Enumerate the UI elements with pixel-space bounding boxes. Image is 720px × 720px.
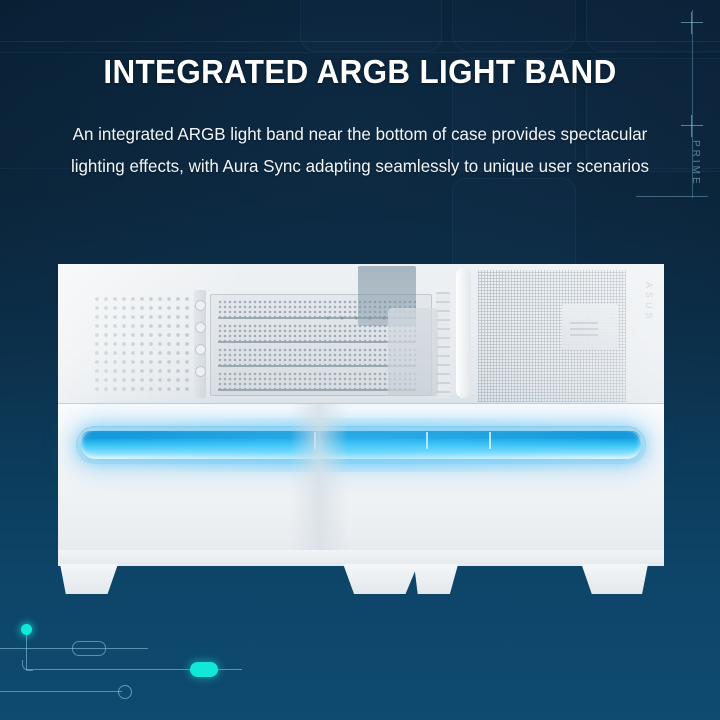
case-foot <box>574 564 648 594</box>
mesh-panel-right <box>478 270 626 402</box>
cable-cover-bar <box>456 268 471 398</box>
crosshair-icon <box>681 115 703 137</box>
pci-retention-rail <box>194 290 206 398</box>
case-foot <box>414 564 460 594</box>
argb-segment-divider <box>426 432 428 449</box>
io-bracket-strip <box>436 292 450 398</box>
circuit-node-dot <box>21 624 32 635</box>
drive-bay-plate <box>562 304 618 350</box>
background-rule <box>0 41 720 42</box>
thumbscrew-icon <box>195 300 206 311</box>
case-foot <box>60 564 118 594</box>
case-front-panel <box>58 404 664 556</box>
background-panel-shape <box>300 0 442 52</box>
psu-shroud <box>358 266 416 326</box>
case-glass-window: ASUS <box>58 264 664 412</box>
pci-slot-cover <box>218 348 416 367</box>
pci-slot-cover <box>218 372 416 391</box>
argb-segment-divider <box>314 432 316 449</box>
mesh-panel-left <box>94 296 194 392</box>
circuit-trace <box>0 691 122 692</box>
circuit-decoration <box>0 610 300 720</box>
pci-slot-cover <box>218 324 416 343</box>
circuit-pill-filled <box>190 662 218 677</box>
drive-bay-slot <box>570 334 598 336</box>
case-base-plate <box>58 550 664 566</box>
crosshair-icon <box>681 12 703 34</box>
case-foot <box>340 564 418 594</box>
pci-slot-assembly <box>210 294 432 396</box>
product-image-pc-case: ASUS <box>58 264 664 594</box>
drive-bay-slot <box>570 322 598 324</box>
page-title: INTEGRATED ARGB LIGHT BAND <box>18 53 702 91</box>
background-panel-shape <box>452 178 576 276</box>
case-brand-label: ASUS <box>644 282 654 323</box>
argb-band-diffuser <box>81 431 641 459</box>
argb-light-band <box>76 426 646 464</box>
thumbscrew-icon <box>195 366 206 377</box>
pci-slot-cover <box>218 300 416 319</box>
thumbscrew-icon <box>195 322 206 333</box>
prime-brand-label: PRIME <box>690 140 701 187</box>
circuit-node-ring <box>118 685 132 699</box>
circuit-pill-outline <box>72 641 106 656</box>
page-subtitle: An integrated ARGB light band near the b… <box>59 118 660 182</box>
interior-panel <box>388 308 438 396</box>
thumbscrew-icon <box>195 344 206 355</box>
technical-rule <box>636 196 708 197</box>
background-panel-shape <box>452 0 576 52</box>
argb-segment-divider <box>489 432 491 449</box>
vent-detail <box>326 316 386 324</box>
drive-bay-slot <box>570 328 598 330</box>
promo-slide: PRIME INTEGRATED ARGB LIGHT BAND An inte… <box>0 0 720 720</box>
